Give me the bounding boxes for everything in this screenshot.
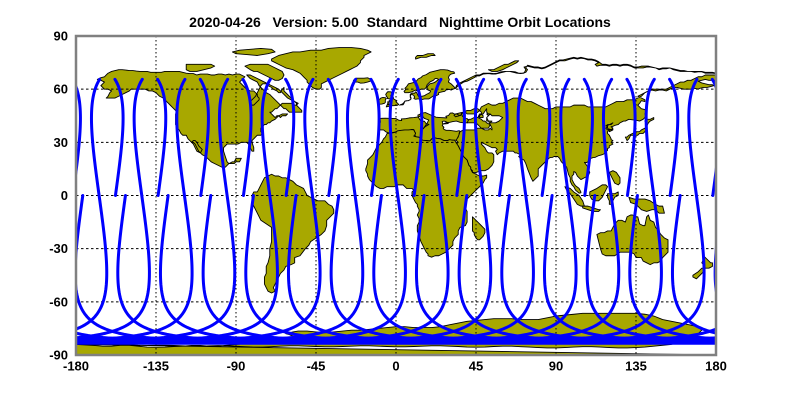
orbit-ground-track: [710, 79, 800, 340]
x-axis-ticks: -180-135-90-4504590135180: [63, 359, 727, 374]
x-tick-label: -135: [143, 359, 169, 374]
y-tick-label: 90: [54, 28, 68, 43]
x-tick-label: -90: [227, 359, 246, 374]
x-tick-label: 0: [392, 359, 399, 374]
orbit-map-plot: 9060300-30-60-90 -180-135-90-45045901351…: [0, 0, 800, 400]
figure-root: 2020-04-26 Version: 5.00 Standard Nightt…: [0, 0, 800, 400]
y-tick-label: -30: [49, 241, 68, 256]
x-tick-label: -45: [307, 359, 326, 374]
x-tick-label: 45: [469, 359, 483, 374]
y-tick-label: 0: [61, 188, 68, 203]
y-tick-label: -60: [49, 294, 68, 309]
x-tick-label: -180: [63, 359, 89, 374]
y-tick-label: 30: [54, 135, 68, 150]
y-tick-label: 60: [54, 82, 68, 97]
orbit-ground-track: [715, 196, 800, 340]
x-tick-label: 135: [625, 359, 647, 374]
y-axis-ticks: 9060300-30-60-90: [49, 28, 68, 362]
x-tick-label: 90: [549, 359, 563, 374]
x-tick-label: 180: [705, 359, 727, 374]
